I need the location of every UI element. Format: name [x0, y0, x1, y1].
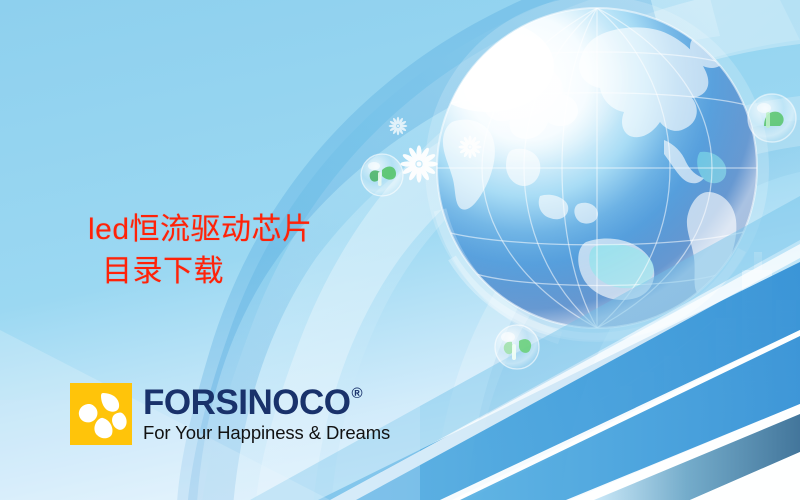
logo-tagline: For Your Happiness & Dreams: [143, 423, 390, 443]
company-logo: FORSINOCO ® For Your Happiness & Dreams: [70, 383, 390, 445]
logo-wordmark-text: FORSINOCO: [143, 385, 350, 420]
four-petal-pinwheel-icon: [70, 383, 132, 445]
logo-wordmark: FORSINOCO ®: [143, 385, 390, 420]
registered-trademark-icon: ®: [351, 386, 362, 401]
headline-line-2: 目录下载: [102, 251, 428, 294]
bubble-bottom-center: [495, 325, 539, 369]
bubble-top-right: [748, 94, 796, 142]
headline-line-1: led恒流驱动芯片: [88, 213, 313, 246]
hero-banner: led恒流驱动芯片 目录下载 FORSINOCO ® For Your Happ…: [0, 0, 800, 500]
logo-text-block: FORSINOCO ® For Your Happiness & Dreams: [143, 383, 390, 443]
page-title: led恒流驱动芯片 目录下载: [88, 166, 428, 336]
